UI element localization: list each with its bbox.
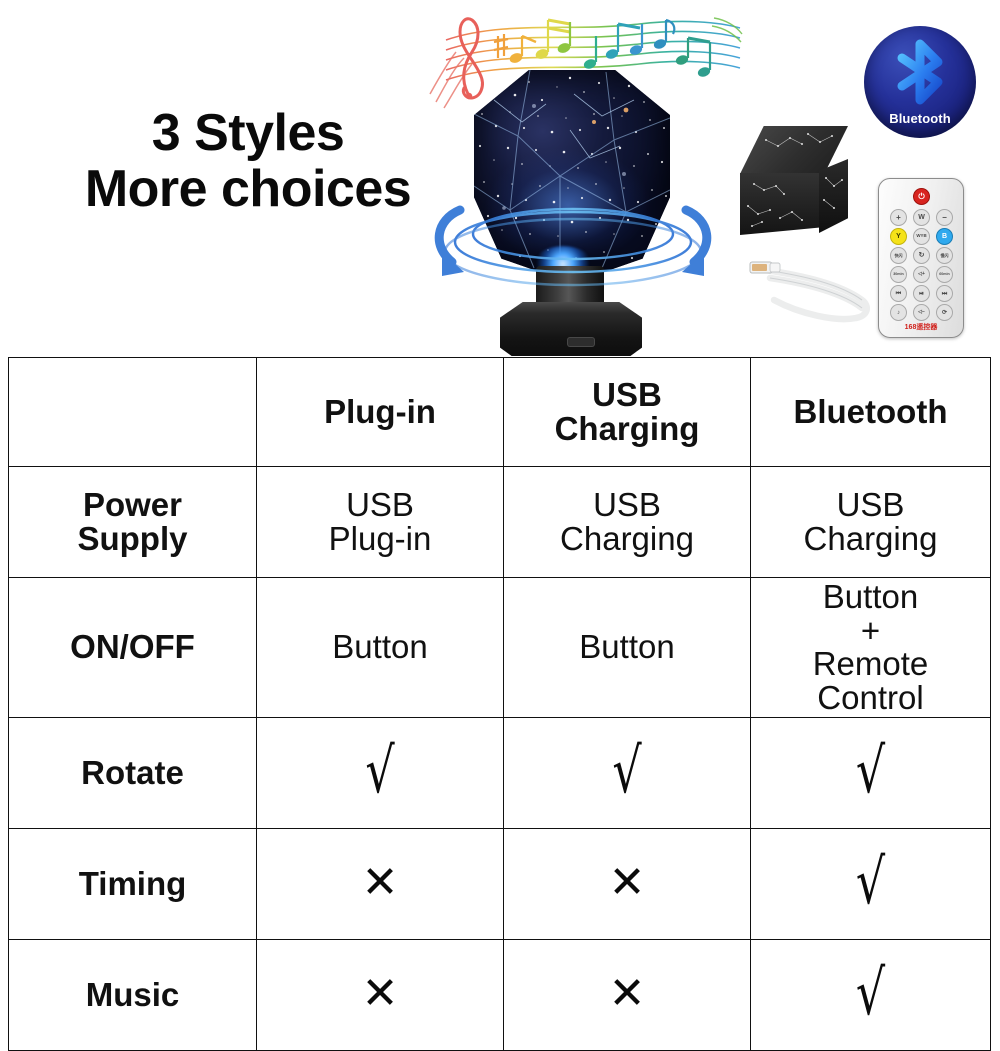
cross-icon: ✕ — [362, 861, 399, 906]
rotate-button[interactable]: ↻ — [913, 247, 930, 264]
bluetooth-icon — [864, 26, 976, 116]
loop-button[interactable]: ⟳ — [936, 304, 953, 321]
check-icon: √ — [365, 740, 394, 803]
headline-line-1: 3 Styles — [48, 105, 448, 161]
header-usb-charging: USB Charging — [504, 358, 751, 467]
cell-line2: Plug-in — [261, 522, 499, 556]
cell-power-plug-in: USB Plug-in — [257, 467, 504, 578]
table-row: Power Supply USB Plug-in USB Charging US… — [9, 467, 991, 578]
header-bluetooth: Bluetooth — [751, 358, 991, 467]
hero-banner: 3 Styles More choices — [0, 0, 1000, 356]
white-button[interactable]: W — [913, 209, 930, 226]
next-track-button[interactable]: ⏭ — [936, 285, 953, 302]
cell-rotate-bluetooth: √ — [751, 717, 991, 828]
brightness-up-button[interactable]: + — [890, 209, 907, 226]
row-label-line2: Supply — [13, 522, 252, 556]
cell-onoff-bluetooth: Button + Remote Control — [751, 578, 991, 718]
bluetooth-label: Bluetooth — [864, 111, 976, 126]
timer-60min-button[interactable]: 60min — [936, 266, 953, 283]
table-row: Rotate √ √ √ — [9, 717, 991, 828]
cell-rotate-usb-charging: √ — [504, 717, 751, 828]
speed-down-button[interactable]: ◁− — [913, 304, 930, 321]
cell-line1: Button — [755, 580, 986, 614]
bluetooth-badge: Bluetooth — [864, 26, 976, 138]
table-header-row: Plug-in USB Charging Bluetooth — [9, 358, 991, 467]
music-button[interactable]: ♪ — [890, 304, 907, 321]
cell-line2: Charging — [755, 522, 986, 556]
cross-icon: ✕ — [362, 972, 399, 1017]
cell-timing-bluetooth: √ — [751, 828, 991, 939]
cell-music-bluetooth: √ — [751, 939, 991, 1050]
star-projector-lamp — [452, 70, 692, 356]
usb-charging-cable — [744, 248, 876, 334]
timer-30min-button[interactable]: 30min — [890, 266, 907, 283]
cell-music-usb-charging: ✕ — [504, 939, 751, 1050]
row-label-power-supply: Power Supply — [9, 467, 257, 578]
page-title: 3 Styles More choices — [48, 105, 448, 217]
cross-icon: ✕ — [609, 972, 646, 1017]
cell-line3: Remote Control — [755, 647, 986, 714]
row-label-music: Music — [9, 939, 257, 1050]
row-label-line1: Power — [13, 488, 252, 522]
cell-music-plug-in: ✕ — [257, 939, 504, 1050]
cell-line1: USB — [261, 488, 499, 522]
headline-line-2: More choices — [48, 161, 448, 217]
header-usb-charging-line2: Charging — [508, 412, 746, 446]
power-button[interactable]: ⏻ — [913, 188, 930, 205]
cell-timing-plug-in: ✕ — [257, 828, 504, 939]
table-row: Music ✕ ✕ √ — [9, 939, 991, 1050]
cell-power-bluetooth: USB Charging — [751, 467, 991, 578]
cell-timing-usb-charging: ✕ — [504, 828, 751, 939]
row-label-on-off: ON/OFF — [9, 578, 257, 718]
table-row: ON/OFF Button Button Button + Remote Con… — [9, 578, 991, 718]
row-label-timing: Timing — [9, 828, 257, 939]
yellow-button[interactable]: Y — [890, 228, 907, 245]
slow-flash-button[interactable]: 慢闪 — [936, 247, 953, 264]
speed-up-button[interactable]: ◁+ — [913, 266, 930, 283]
remote-control[interactable]: ⏻ + W − Y WYB B 快闪 ↻ 慢闪 30min ◁+ 60min ⏮… — [878, 178, 964, 338]
previous-track-button[interactable]: ⏮ — [890, 285, 907, 302]
header-usb-charging-line1: USB — [508, 378, 746, 412]
brightness-down-button[interactable]: − — [936, 209, 953, 226]
lamp-base — [500, 302, 642, 356]
check-icon: √ — [612, 740, 641, 803]
constellation-pattern — [736, 126, 856, 244]
header-plug-in: Plug-in — [257, 358, 504, 467]
cell-line1: USB — [755, 488, 986, 522]
fast-flash-button[interactable]: 快闪 — [890, 247, 907, 264]
cell-line2: + — [755, 614, 986, 648]
cross-icon: ✕ — [609, 861, 646, 906]
cell-onoff-usb-charging: Button — [504, 578, 751, 718]
check-icon: √ — [856, 962, 885, 1025]
rotation-arrows-icon — [408, 180, 738, 300]
white-yellow-blue-button[interactable]: WYB — [913, 228, 930, 245]
cell-onoff-plug-in: Button — [257, 578, 504, 718]
check-icon: √ — [856, 851, 885, 914]
cell-line2: Charging — [508, 522, 746, 556]
header-blank-cell — [9, 358, 257, 467]
remote-model-label: 168遥控器 — [879, 322, 963, 332]
constellation-gift-box — [736, 126, 856, 244]
cell-line1: USB — [508, 488, 746, 522]
usb-port — [568, 338, 594, 346]
cell-rotate-plug-in: √ — [257, 717, 504, 828]
blue-button[interactable]: B — [936, 228, 953, 245]
row-label-rotate: Rotate — [9, 717, 257, 828]
check-icon: √ — [856, 740, 885, 803]
cell-power-usb-charging: USB Charging — [504, 467, 751, 578]
feature-comparison-table: Plug-in USB Charging Bluetooth Power Sup… — [8, 357, 991, 1051]
play-pause-button[interactable]: ⏯ — [913, 285, 930, 302]
table-row: Timing ✕ ✕ √ — [9, 828, 991, 939]
